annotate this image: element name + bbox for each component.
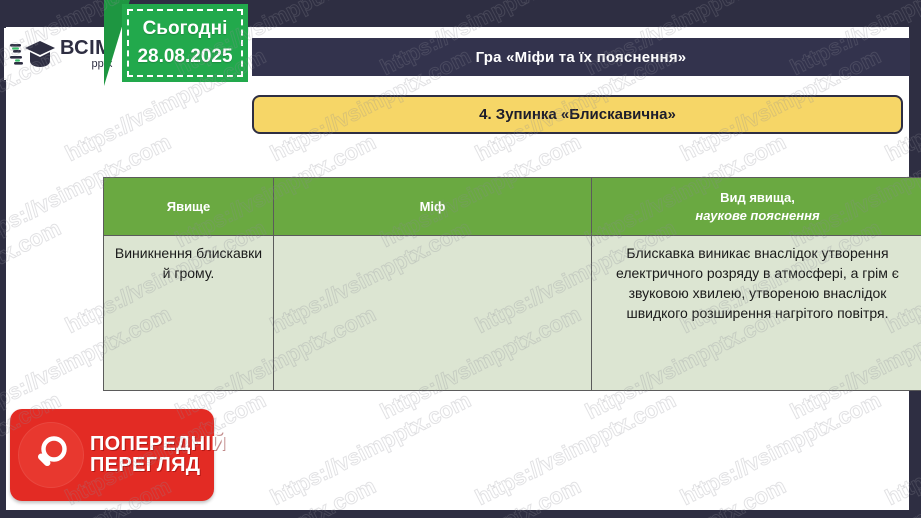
column-header-myth: Міф — [274, 178, 592, 236]
table-header-row: Явище Міф Вид явища, наукове пояснення — [104, 178, 921, 236]
column-header-explanation-label: Вид явища, — [720, 190, 795, 205]
cell-myth[interactable] — [274, 236, 592, 391]
column-header-explanation: Вид явища, наукове пояснення — [592, 178, 921, 236]
subtitle-banner: 4. Зупинка «Блискавична» — [252, 95, 903, 134]
preview-badge-line1: ПОПЕРЕДНІЙ — [90, 434, 226, 455]
cell-phenomenon: Виникнення блискавки й грому. — [104, 236, 274, 391]
subtitle-text: 4. Зупинка «Блискавична» — [479, 106, 676, 123]
myths-table: Явище Міф Вид явища, наукове пояснення В… — [103, 177, 921, 391]
column-header-explanation-sublabel: наукове пояснення — [598, 207, 917, 225]
today-label: Сьогодні — [143, 18, 228, 40]
table-body: Виникнення блискавки й грому. Блискавка … — [104, 236, 921, 391]
slide-root: ВСІМ pptx Сьогодні 28.08.2025 Гра «Міфи … — [0, 0, 921, 518]
today-badge-box: Сьогодні 28.08.2025 — [122, 4, 248, 82]
preview-badge: ПОПЕРЕДНІЙ ПЕРЕГЛЯД — [10, 409, 214, 501]
table-head: Явище Міф Вид явища, наукове пояснення — [104, 178, 921, 236]
table-row: Виникнення блискавки й грому. Блискавка … — [104, 236, 921, 391]
slide-header-bar: Гра «Міфи та їх пояснення» — [252, 38, 910, 76]
cell-explanation: Блискавка виникає внаслідок утворення ел… — [592, 236, 921, 391]
today-badge: Сьогодні 28.08.2025 — [104, 0, 250, 86]
preview-badge-line2: ПЕРЕГЛЯД — [90, 455, 226, 476]
page-title: Гра «Міфи та їх пояснення» — [476, 49, 687, 66]
column-header-phenomenon-label: Явище — [167, 199, 211, 214]
magnifier-icon — [18, 422, 84, 488]
column-header-myth-label: Міф — [420, 199, 446, 214]
column-header-phenomenon: Явище — [104, 178, 274, 236]
preview-badge-text: ПОПЕРЕДНІЙ ПЕРЕГЛЯД — [90, 434, 226, 476]
today-date: 28.08.2025 — [137, 46, 232, 68]
graduation-cap-icon — [10, 37, 56, 71]
brand-logo: ВСІМ pptx — [4, 28, 112, 80]
